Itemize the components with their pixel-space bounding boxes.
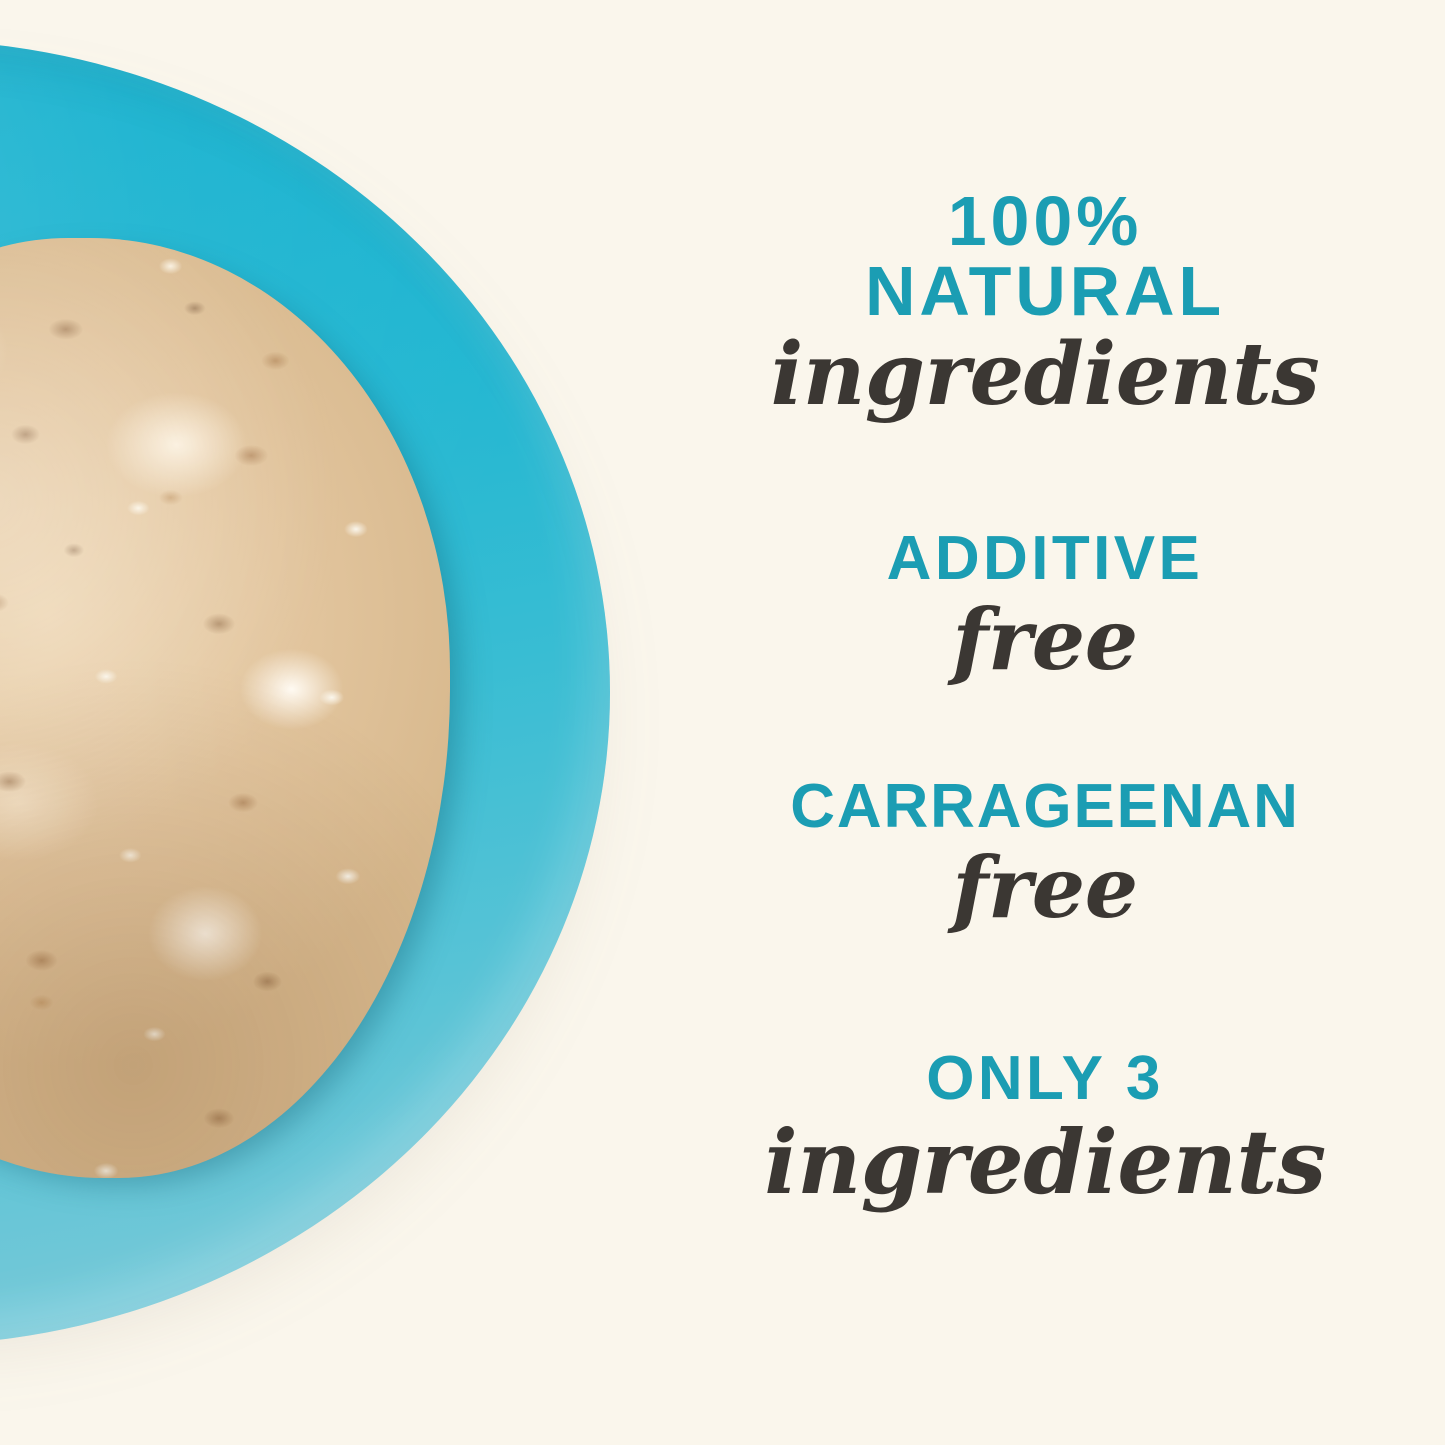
claim-only-3-ingredients: ONLY 3 ingredients <box>665 1048 1425 1206</box>
claims-list: 100% NATURAL ingredients ADDITIVE free C… <box>665 0 1425 1445</box>
food-portion <box>0 238 450 1178</box>
claim-subline: ingredients <box>665 1118 1425 1206</box>
claim-headline: CARRAGEENAN <box>665 776 1425 838</box>
claim-additive-free: ADDITIVE free <box>665 528 1425 682</box>
claim-subline: free <box>665 846 1425 930</box>
claim-natural-ingredients: 100% NATURAL ingredients <box>665 186 1425 418</box>
claim-headline: 100% NATURAL <box>665 186 1425 326</box>
claim-subline: free <box>665 598 1425 682</box>
product-feature-graphic: 100% NATURAL ingredients ADDITIVE free C… <box>0 0 1445 1445</box>
claim-headline: ADDITIVE <box>665 528 1425 590</box>
claim-carrageenan-free: CARRAGEENAN free <box>665 776 1425 930</box>
claim-subline: ingredients <box>665 332 1425 418</box>
claim-headline: ONLY 3 <box>665 1048 1425 1110</box>
